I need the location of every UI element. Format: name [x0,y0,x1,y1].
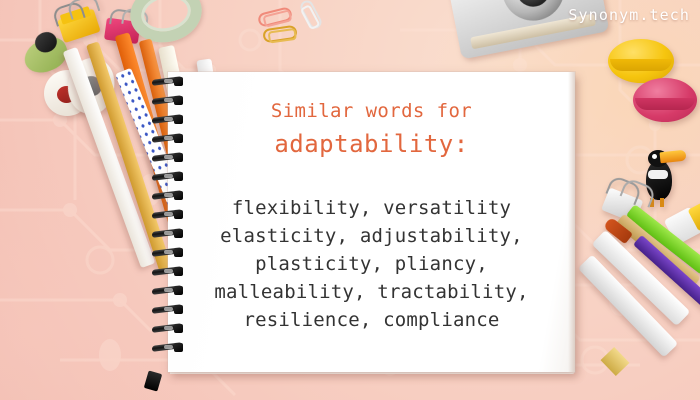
synonym-line: elasticity, adjustability, [214,222,528,250]
synonym-line: resilience, compliance [214,306,528,334]
synonym-list: flexibility, versatility elasticity, adj… [214,194,528,334]
notebook: Similar words for adaptability: flexibil… [150,72,575,372]
synonym-line: flexibility, versatility [214,194,528,222]
synonym-line: plasticity, pliancy, [214,250,528,278]
macaron-pink [633,74,697,126]
synonym-line: malleability, tractability, [214,278,528,306]
notebook-content: Similar words for adaptability: flexibil… [168,72,575,372]
heading-term: adaptability: [274,128,468,160]
screenshot-canvas: Similar words for adaptability: flexibil… [0,0,700,400]
heading-prefix: Similar words for [271,98,472,124]
site-logo: Synonym.tech [568,6,690,24]
